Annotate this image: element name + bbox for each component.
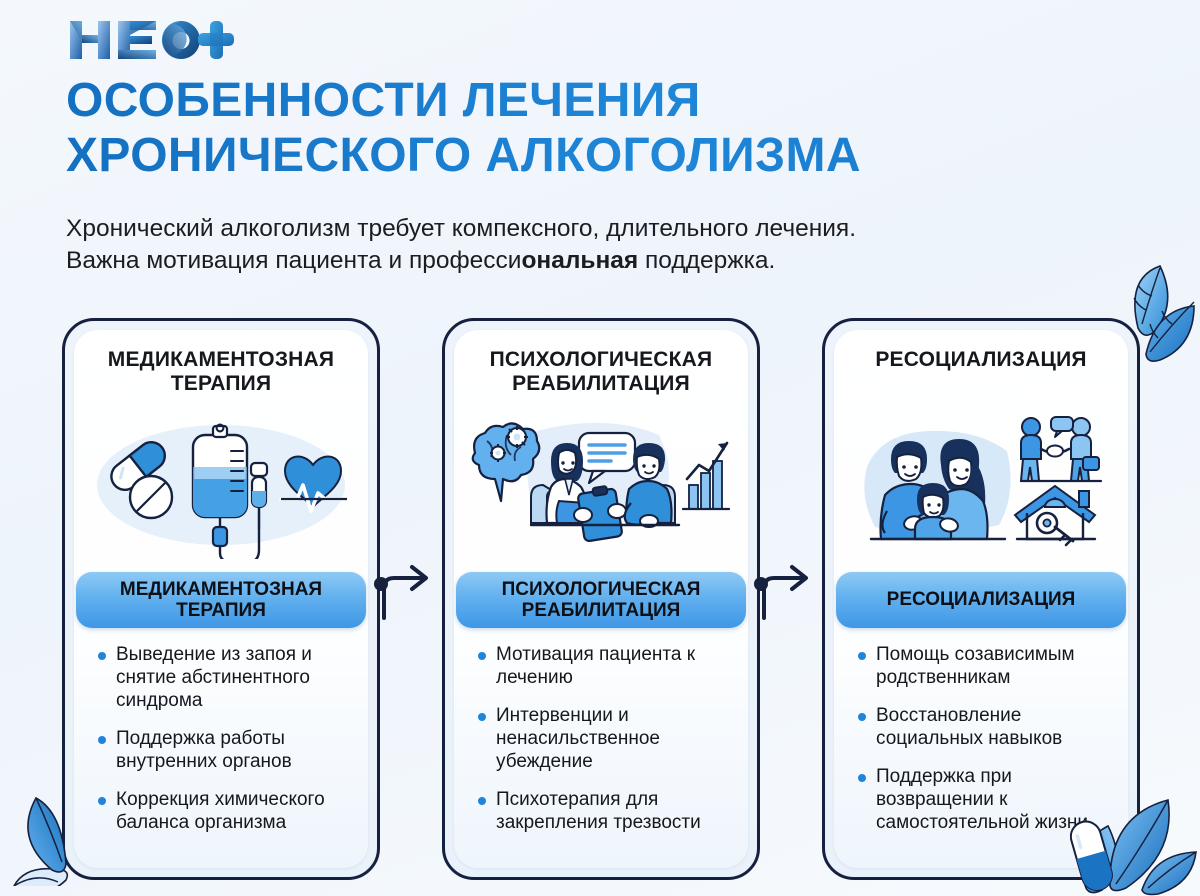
stage-card-resocialization[interactable]: РЕСОЦИАЛИЗАЦИЯ bbox=[822, 318, 1140, 880]
subtitle-text-bold: ональная bbox=[521, 247, 638, 274]
stage-card-psychological[interactable]: ПСИХОЛОГИЧЕСКАЯ РЕАБИЛИТАЦИЯ bbox=[442, 318, 760, 880]
illustration-medication bbox=[83, 404, 359, 562]
neo-plus-logo-icon bbox=[68, 17, 234, 63]
stage-bullet-list: Мотивация пациента к лечению Интервенции… bbox=[468, 644, 734, 850]
stage-heading: МЕДИКАМЕНТОЗНАЯ ТЕРАПИЯ bbox=[88, 348, 354, 400]
list-item: Поддержка при возвращении к самостоятель… bbox=[856, 766, 1114, 835]
stage-badge[interactable]: ПСИХОЛОГИЧЕСКАЯ РЕАБИЛИТАЦИЯ bbox=[456, 572, 746, 628]
list-item: Выведение из запоя и снятие абстинентног… bbox=[96, 644, 354, 713]
stage-bullet-list: Помощь созависимым родственникам Восстан… bbox=[848, 644, 1114, 850]
page-subtitle: Хронический алкоголизм требует компексно… bbox=[66, 213, 1136, 278]
list-item: Интервенции и ненасильственное убеждение bbox=[476, 705, 734, 774]
list-item: Психотерапия для закрепления трезвости bbox=[476, 789, 734, 835]
list-item: Восстановление социальных навыков bbox=[856, 705, 1114, 751]
arrow-card1-to-card2-icon bbox=[378, 540, 438, 620]
page-subtitle-line-1: Хронический алкоголизм требует компексно… bbox=[66, 213, 1136, 245]
stage-card-medication[interactable]: МЕДИКАМЕНТОЗНАЯ ТЕРАПИЯ bbox=[62, 318, 380, 880]
page-title: ОСОБЕННОСТИ ЛЕЧЕНИЯ ХРОНИЧЕСКОГО АЛКОГОЛ… bbox=[66, 74, 1126, 183]
stages-row: МЕДИКАМЕНТОЗНАЯ ТЕРАПИЯ bbox=[0, 318, 1200, 888]
brand-logo[interactable] bbox=[68, 16, 234, 64]
pills-iv-drip-heart-pulse-icon bbox=[85, 407, 357, 559]
stage-badge[interactable]: РЕСОЦИАЛИЗАЦИЯ bbox=[836, 572, 1126, 628]
stage-badge[interactable]: МЕДИКАМЕНТОЗНАЯ ТЕРАПИЯ bbox=[76, 572, 366, 628]
stage-heading: РЕСОЦИАЛИЗАЦИЯ bbox=[875, 348, 1086, 400]
therapist-patient-brain-chart-icon bbox=[465, 407, 737, 559]
list-item: Помощь созависимым родственникам bbox=[856, 644, 1114, 690]
page-subtitle-line-2: Важна мотивация пациента и профессиональ… bbox=[66, 245, 1136, 277]
subtitle-text-post: поддержка. bbox=[638, 247, 775, 274]
subtitle-text-pre: Важна мотивация пациента и професси bbox=[66, 247, 521, 274]
list-item: Коррекция химического баланса организма bbox=[96, 789, 354, 835]
page-title-line-1: ОСОБЕННОСТИ ЛЕЧЕНИЯ bbox=[66, 74, 1126, 129]
family-handshake-house-key-icon bbox=[845, 407, 1117, 559]
illustration-psychological bbox=[463, 404, 739, 562]
arrow-card2-to-card3-icon bbox=[758, 540, 818, 620]
list-item: Мотивация пациента к лечению bbox=[476, 644, 734, 690]
list-item: Поддержка работы внутренних органов bbox=[96, 728, 354, 774]
illustration-resocialization bbox=[843, 404, 1119, 562]
stage-heading: ПСИХОЛОГИЧЕСКАЯ РЕАБИЛИТАЦИЯ bbox=[468, 348, 734, 400]
stage-bullet-list: Выведение из запоя и снятие абстинентног… bbox=[88, 644, 354, 850]
page-title-line-2: ХРОНИЧЕСКОГО АЛКОГОЛИЗМА bbox=[66, 129, 1126, 184]
